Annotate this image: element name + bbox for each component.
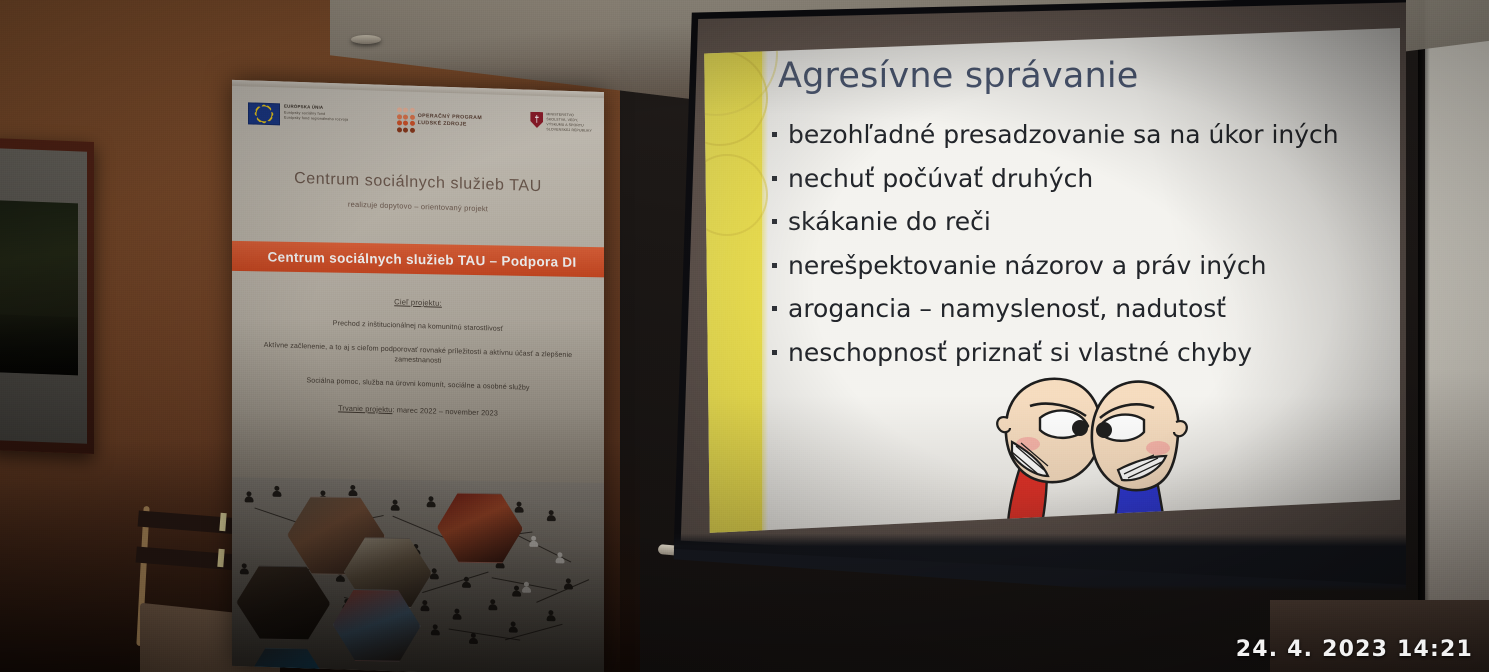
slovak-coat-of-arms-icon: [530, 112, 543, 128]
photograph: EURÓPSKA ÚNIA Európsky sociálny fond Eur…: [0, 0, 1489, 672]
banner-goal-paragraph-3: Sociálna pomoc, služba na úrovni komunít…: [240, 373, 596, 395]
eu-flag-icon: [248, 102, 280, 125]
banner-body: Cieľ projektu: Prechod z inštitucionálne…: [240, 292, 596, 420]
banner-subtitle: realizuje dopytovo – orientovaný projekt: [232, 196, 604, 217]
collage-photo-3: [436, 492, 523, 563]
far-right-wall-edge: [1418, 0, 1430, 672]
operational-programme-logo: OPERAČNÝ PROGRAM ĽUDSKÉ ZDROJE: [397, 107, 483, 135]
rollup-banner: EURÓPSKA ÚNIA Európsky sociálny fond Eur…: [232, 80, 604, 672]
banner-duration-label: Trvanie projektu: [338, 403, 392, 414]
ministry-line-4: SLOVENSKEJ REPUBLIKY: [546, 127, 592, 134]
project-photo-network-collage: [232, 477, 604, 672]
banner-duration: Trvanie projektu: marec 2022 – november …: [240, 400, 596, 421]
banner-goal-paragraph-1: Prechod z inštitucionálnej na komunitnú …: [240, 315, 596, 337]
banner-project-strip-label: Centrum sociálnych služieb TAU – Podpora…: [267, 249, 576, 269]
ministry-logo-text: MINISTERSTVO ŠKOLSTVA, VEDY, VÝSKUMU A Š…: [546, 112, 592, 134]
painting-shadow: [0, 138, 94, 454]
banner-duration-value: : marec 2022 – november 2023: [392, 405, 498, 418]
banner-organisation-name: Centrum sociálnych služieb TAU: [232, 168, 604, 198]
smoke-detector-icon: [351, 35, 381, 44]
op-logo-text: OPERAČNÝ PROGRAM ĽUDSKÉ ZDROJE: [418, 113, 482, 129]
eu-logo: EURÓPSKA ÚNIA Európsky sociálny fond Eur…: [248, 102, 348, 127]
collage-photo-4: [236, 565, 331, 641]
ministry-logo: MINISTERSTVO ŠKOLSTVA, VEDY, VÝSKUMU A Š…: [530, 112, 592, 134]
eu-logo-line-2: Európsky fond regionálneho rozvoja: [284, 116, 348, 124]
projection-screen-bottom-bar: [616, 0, 1406, 636]
banner-goal-heading: Cieľ projektu:: [240, 292, 596, 313]
far-right-wall: [1425, 0, 1489, 672]
banner-goal-paragraph-2: Aktívne začlenenie, a to aj s cieľom pod…: [240, 339, 596, 372]
eu-logo-text: EURÓPSKA ÚNIA Európsky sociálny fond Eur…: [284, 104, 348, 124]
photo-timestamp: 24. 4. 2023 14:21: [1236, 637, 1473, 662]
op-dots-icon: [397, 107, 415, 132]
banner-logo-row: EURÓPSKA ÚNIA Európsky sociálny fond Eur…: [248, 102, 592, 157]
banner-project-strip: Centrum sociálnych služieb TAU – Podpora…: [232, 241, 604, 278]
